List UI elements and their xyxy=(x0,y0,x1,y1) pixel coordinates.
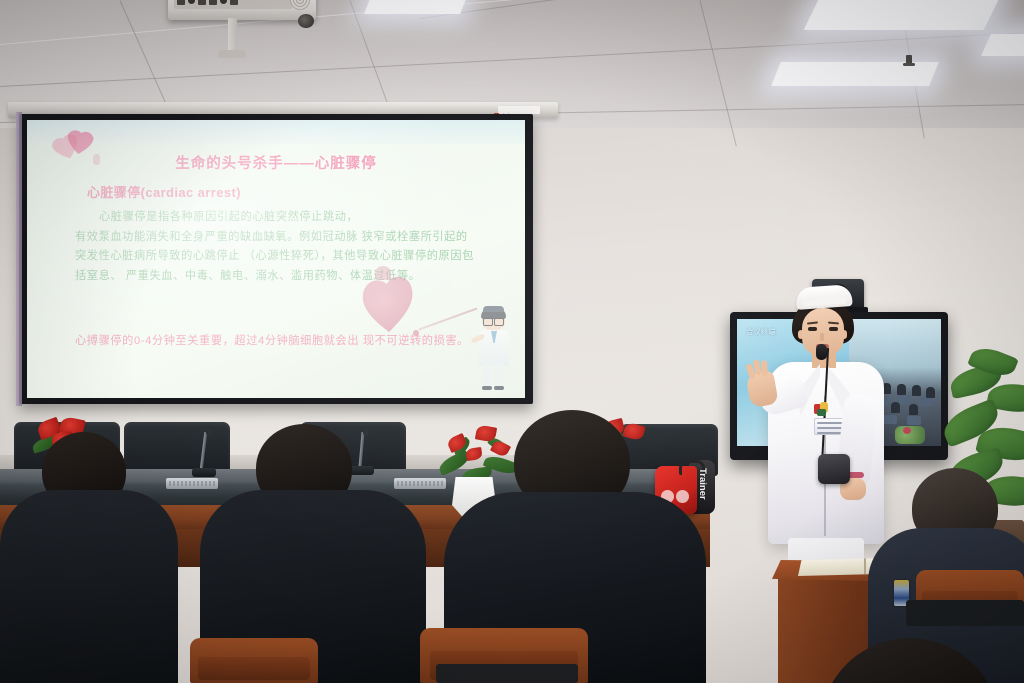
attendee-mid-left xyxy=(14,432,164,683)
nurse-cap xyxy=(795,284,852,310)
table-nameplate xyxy=(166,478,218,489)
projector-ports xyxy=(174,0,292,9)
pointer-tip xyxy=(413,330,419,336)
aed-trainer-text: Trainer xyxy=(697,468,708,500)
ceiling-panel-light xyxy=(804,0,1001,30)
cartoon-doctor-icon xyxy=(473,306,515,390)
projector-mount-plate xyxy=(218,50,246,58)
slide-body-line: 心脏骤停是指各种原因引起的心脏突然停止跳动， xyxy=(75,208,475,228)
projection-screen[interactable]: 生命的头号杀手——心脏骤停 心脏骤停(cardiac arrest) 心脏骤停是… xyxy=(19,114,533,404)
lecture-room-photo: 安全 生命的头号杀手——心脏骤停 心脏骤停(cardiac arrest) 心脏… xyxy=(0,0,1024,683)
lapel-pin-icon xyxy=(814,402,828,416)
projector-lens xyxy=(298,14,314,28)
audience-chair-seat xyxy=(436,664,578,683)
heart-aorta-shape xyxy=(375,266,391,280)
microphone-base xyxy=(192,468,216,477)
slide-highlight-line: 现不可逆转的损害。 xyxy=(363,335,469,347)
presentation-slide: 生命的头号杀手——心脏骤停 心脏骤停(cardiac arrest) 心脏骤停是… xyxy=(27,120,525,398)
pointer-stick-icon xyxy=(419,307,478,330)
slide-body-line: 有效泵血功能消失和全身严重的缺血缺氧。例如冠动脉 xyxy=(75,231,358,243)
slide-subtitle: 心脏骤停(cardiac arrest) xyxy=(87,182,241,201)
sprinkler-head xyxy=(906,55,912,66)
audience-chair[interactable] xyxy=(190,638,318,683)
projector-fan-vent xyxy=(290,0,310,10)
slide-body-text: 心脏骤停是指各种原因引起的心脏突然停止跳动， 有效泵血功能消失和全身严重的缺血缺… xyxy=(75,208,475,286)
ceiling-projector xyxy=(168,0,316,20)
slide-highlight-line: 心搏骤停的0-4分钟至关重要，超过4分钟脑细胞就会出 xyxy=(75,335,359,347)
attendee-bottom-right xyxy=(820,638,1000,683)
ceiling-panel-light xyxy=(364,0,468,14)
headset-microphone-icon xyxy=(816,344,827,360)
belt-transmitter-pack xyxy=(818,454,850,484)
slide-title: 生命的头号杀手——心脏骤停 xyxy=(27,152,525,173)
remote-view-flowers xyxy=(895,426,925,444)
